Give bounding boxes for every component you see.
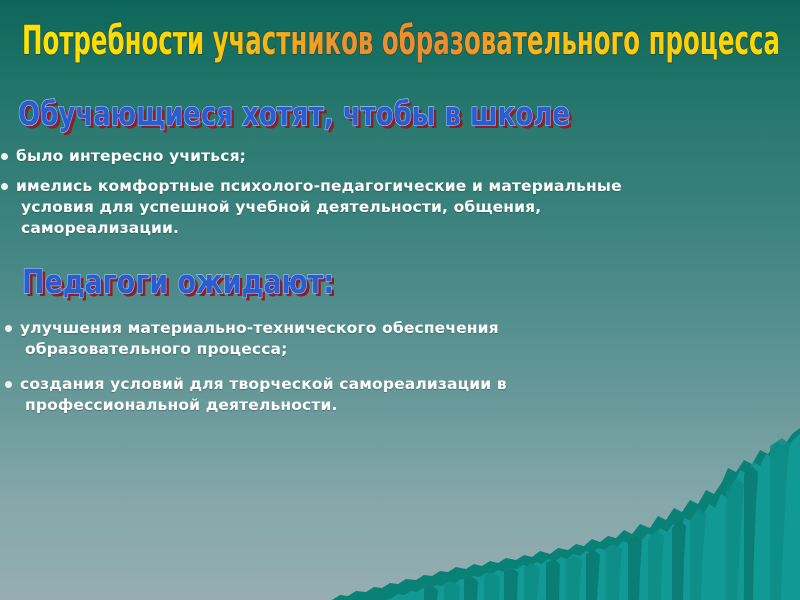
mountain-back-ridge	[332, 428, 800, 600]
section-heading-teachers: Педагоги ожидают: Педагоги ожидают:	[22, 260, 362, 302]
list-item: улучшения материально-технического обесп…	[4, 318, 764, 360]
list-item-line: самореализации.	[16, 218, 795, 239]
bullet-dot-icon	[1, 153, 8, 160]
list-item: имелись комфортные психолого-педагогичес…	[0, 176, 795, 239]
list-item: создания условий для творческой самореал…	[4, 374, 764, 416]
list-item-line: образовательного процесса;	[20, 339, 764, 360]
students-bullet-list: было интересно учиться; имелись комфортн…	[0, 146, 795, 243]
bullet-dot-icon	[1, 183, 8, 190]
list-item-line: профессиональной деятельности.	[20, 395, 764, 416]
section-heading-teachers-text: Педагоги ожидают:	[22, 262, 334, 301]
list-item-line: создания условий для творческой самореал…	[20, 374, 764, 395]
page-title-text: Потребности участников образовательного …	[22, 18, 780, 64]
list-item: было интересно учиться;	[0, 146, 795, 167]
mountain-dark-notches	[424, 466, 758, 600]
mountain-ridge-shading	[444, 438, 790, 600]
bullet-dot-icon	[5, 381, 12, 388]
mountain-front-mass	[386, 434, 800, 600]
bullet-dot-icon	[5, 325, 12, 332]
list-item-line: было интересно учиться;	[16, 146, 795, 167]
teachers-bullet-list: улучшения материально-технического обесп…	[4, 318, 764, 420]
section-heading-students-text: Обучающиеся хотят, чтобы в школе	[18, 94, 570, 133]
list-item-line: улучшения материально-технического обесп…	[20, 318, 764, 339]
presentation-slide: Потребности участников образовательного …	[0, 0, 800, 600]
list-item-line: условия для успешной учебной деятельност…	[16, 197, 795, 218]
list-item-line: имелись комфортные психолого-педагогичес…	[16, 176, 795, 197]
section-heading-students: Обучающиеся хотят, чтобы в школе Обучающ…	[18, 92, 578, 134]
mountain-silhouette-graphic	[0, 420, 800, 600]
page-title: Потребности участников образовательного …	[22, 14, 782, 62]
